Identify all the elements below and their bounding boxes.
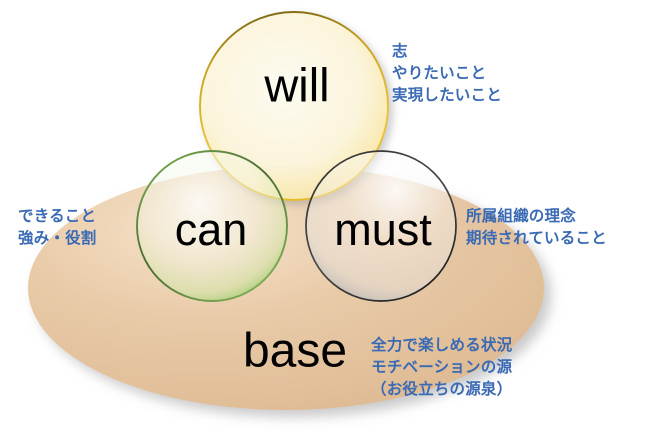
annotation-base-line-2: モチベーションの源 bbox=[371, 356, 512, 378]
annotation-must-line-1: 所属組織の理念 bbox=[466, 205, 607, 227]
annotation-base-line-1: 全力で楽しめる状況 bbox=[371, 334, 512, 356]
annotation-can: できること 強み・役割 bbox=[18, 205, 97, 249]
label-must: must bbox=[334, 204, 432, 255]
annotation-will-line-3: 実現したいこと bbox=[392, 84, 502, 106]
annotation-must: 所属組織の理念 期待されていること bbox=[466, 205, 607, 249]
annotation-will: 志 やりたいこと 実現したいこと bbox=[392, 40, 502, 106]
annotation-can-line-2: 強み・役割 bbox=[18, 227, 97, 249]
annotation-base: 全力で楽しめる状況 モチベーションの源 （お役立ちの源泉） bbox=[371, 334, 512, 400]
annotation-will-line-1: 志 bbox=[392, 40, 502, 62]
annotation-must-line-2: 期待されていること bbox=[466, 227, 607, 249]
label-can: can bbox=[175, 204, 248, 255]
venn-diagram: will can must base 志 やりたいこと 実現したいこと できるこ… bbox=[0, 0, 664, 431]
annotation-base-line-3: （お役立ちの源泉） bbox=[371, 378, 512, 400]
annotation-will-line-2: やりたいこと bbox=[392, 62, 502, 84]
label-base: base bbox=[243, 325, 347, 378]
annotation-can-line-1: できること bbox=[18, 205, 97, 227]
label-will: will bbox=[263, 58, 329, 111]
